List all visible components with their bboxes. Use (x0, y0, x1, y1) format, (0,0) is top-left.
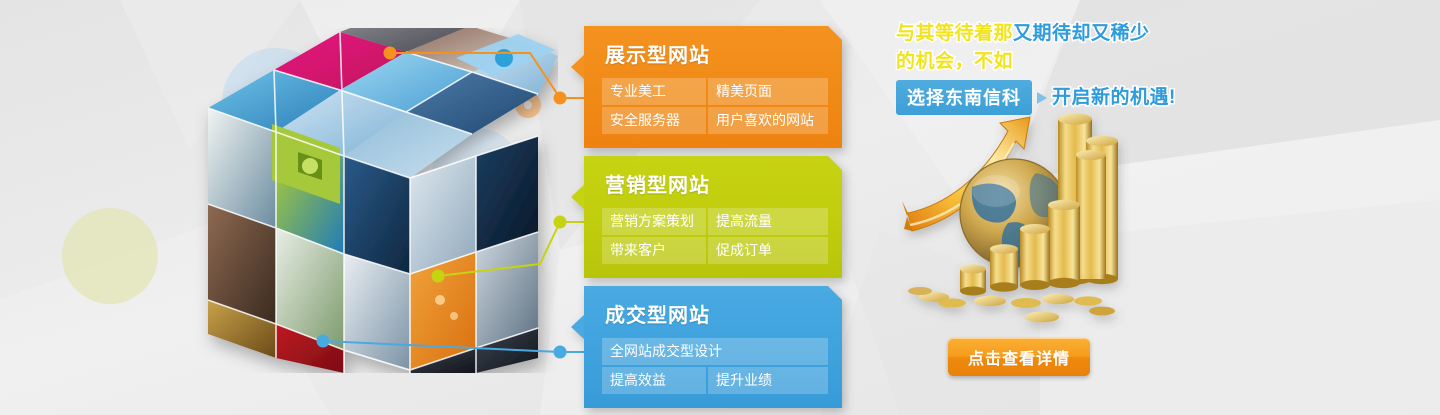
panel-tag-row: 专业美工 精美页面 (602, 78, 828, 105)
panel-tag[interactable]: 用户喜欢的网站 (708, 107, 828, 134)
headline-line-1: 与其等待着那又期待却又稀少 (896, 20, 1196, 48)
panel-tag[interactable]: 提高效益 (602, 367, 706, 394)
panel-tag[interactable]: 提高流量 (708, 208, 828, 235)
panel-tag-row: 营销方案策划 提高流量 (602, 208, 828, 235)
panel-tag-row: 安全服务器 用户喜欢的网站 (602, 107, 828, 134)
panel-notch-conversion (571, 314, 585, 340)
panel-tag[interactable]: 专业美工 (602, 78, 706, 105)
website-cube (188, 28, 558, 373)
panel-notch-showcase (571, 54, 585, 80)
headline-line-2: 的机会，不如 (896, 48, 1196, 76)
panel-title-showcase: 展示型网站 (605, 39, 828, 68)
panel-tag-row: 提高效益 提升业绩 (602, 367, 828, 394)
panel-tag-row: 全网站成交型设计 (602, 338, 828, 365)
right-column: 与其等待着那又期待却又稀少 的机会，不如 选择东南信科 开启新的机遇! (890, 0, 1440, 415)
banner-stage: 展示型网站 专业美工 精美页面 安全服务器 用户喜欢的网站 营销型网站 营销方案… (0, 0, 1440, 415)
panel-tag[interactable]: 营销方案策划 (602, 208, 706, 235)
panel-body-showcase: 展示型网站 专业美工 精美页面 安全服务器 用户喜欢的网站 (584, 26, 842, 148)
decor-blob-olive (62, 208, 158, 304)
panel-body-marketing: 营销型网站 营销方案策划 提高流量 带来客户 促成订单 (584, 156, 842, 278)
panel-tag[interactable]: 安全服务器 (602, 107, 706, 134)
panel-title-marketing: 营销型网站 (605, 169, 828, 198)
arrow-right-icon (1037, 92, 1047, 104)
panel-title-conversion: 成交型网站 (605, 299, 828, 328)
panel-body-conversion: 成交型网站 全网站成交型设计 提高效益 提升业绩 (584, 286, 842, 408)
panel-conversion[interactable]: 成交型网站 全网站成交型设计 提高效益 提升业绩 (584, 274, 842, 415)
panel-tag[interactable]: 精美页面 (708, 78, 828, 105)
panel-marketing[interactable]: 营销型网站 营销方案策划 提高流量 带来客户 促成订单 (584, 144, 842, 290)
headline-text-yellow-1: 与其等待着那 (896, 23, 1013, 44)
panel-tag[interactable]: 促成订单 (708, 237, 828, 264)
panel-notch-marketing (571, 184, 585, 210)
panel-showcase[interactable]: 展示型网站 专业美工 精美页面 安全服务器 用户喜欢的网站 (584, 14, 842, 160)
panel-tag[interactable]: 提升业绩 (708, 367, 828, 394)
cta-button[interactable]: 点击查看详情 (948, 338, 1090, 376)
globe-coins-illustration (890, 105, 1130, 335)
headline-text-yellow-2: 的机会，不如 (896, 51, 1013, 72)
panel-tag[interactable]: 带来客户 (602, 237, 706, 264)
headline: 与其等待着那又期待却又稀少 的机会，不如 选择东南信科 开启新的机遇! (896, 20, 1196, 115)
headline-text-blue-1: 又期待却又稀少 (1013, 23, 1150, 44)
panel-tag[interactable]: 全网站成交型设计 (602, 338, 828, 365)
panel-tag-row: 带来客户 促成订单 (602, 237, 828, 264)
